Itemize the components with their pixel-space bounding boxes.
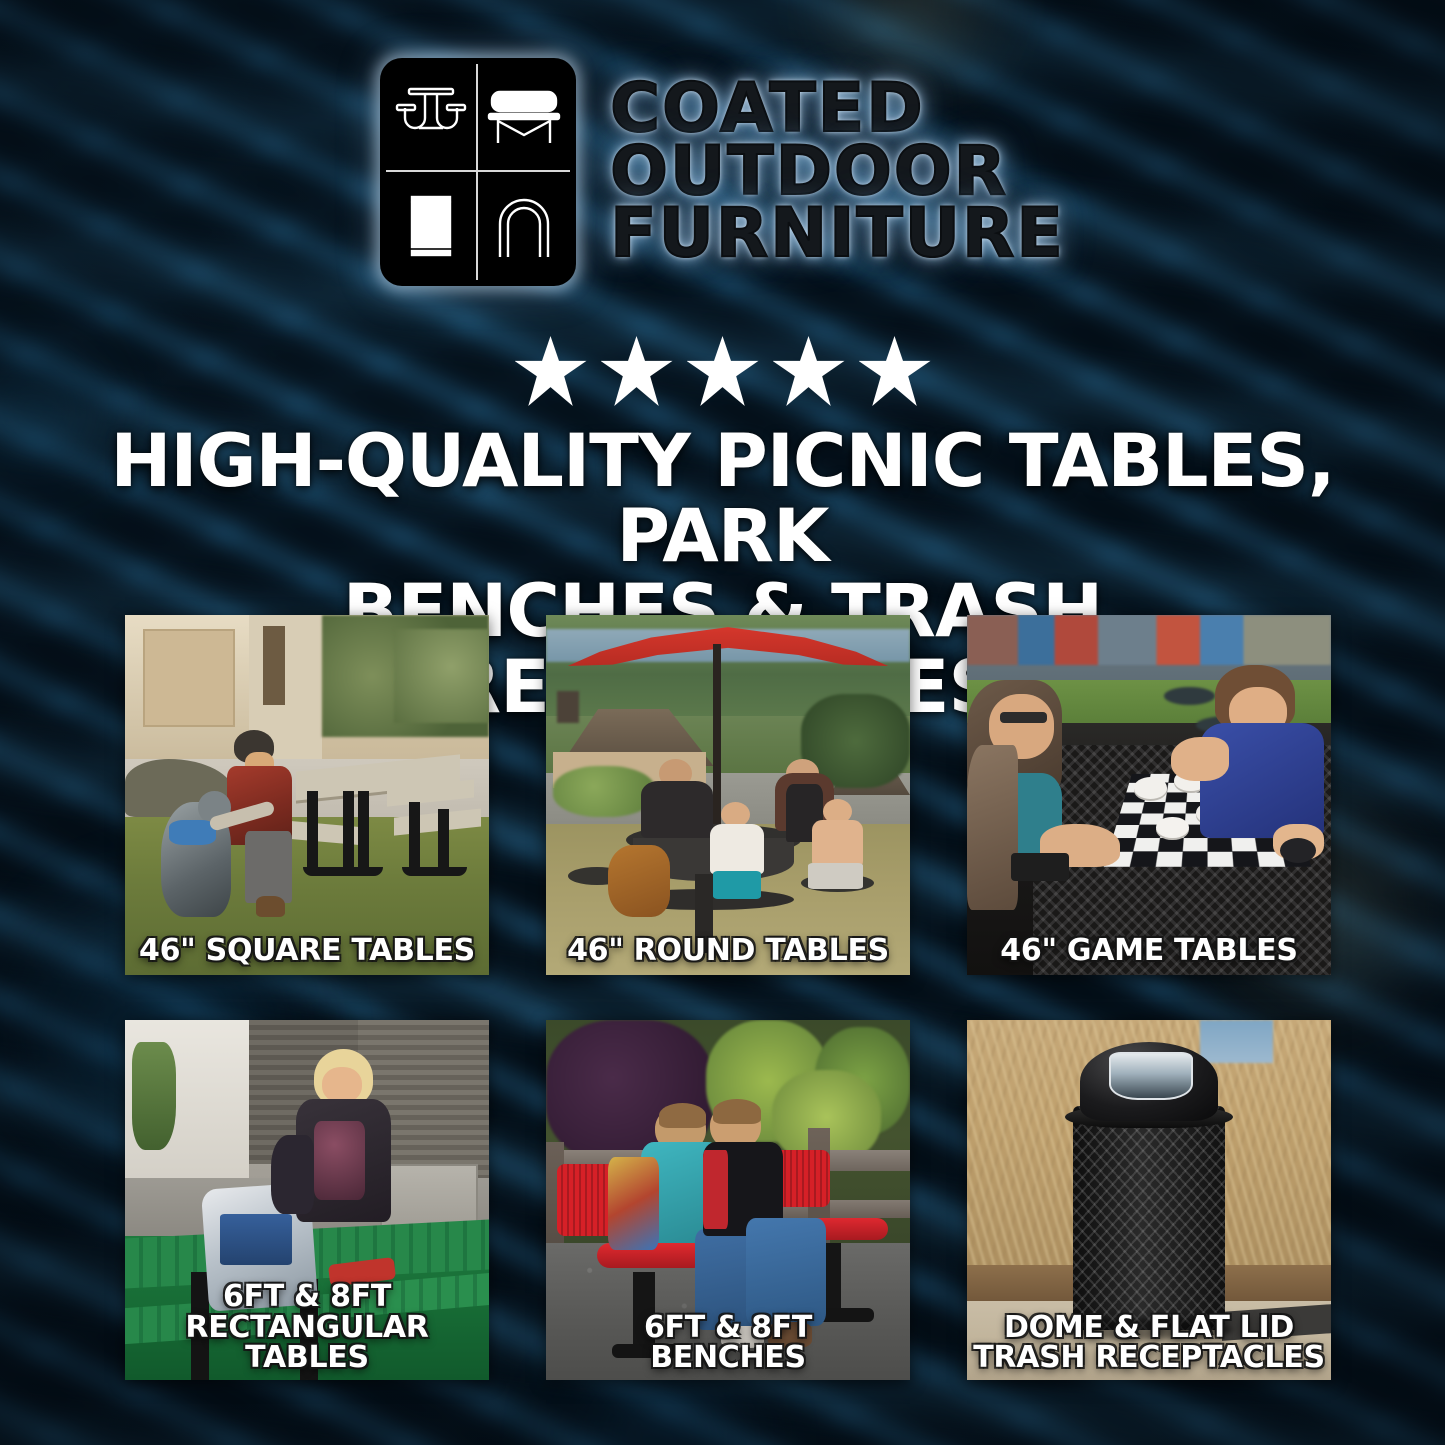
product-tile-benches[interactable]: 6FT & 8FT BENCHES <box>546 1020 910 1380</box>
product-caption: 46" ROUND TABLES <box>546 936 910 967</box>
product-tile-game-tables[interactable]: 46" GAME TABLES <box>967 615 1331 975</box>
star-icon <box>515 336 587 406</box>
star-icon <box>601 336 673 406</box>
product-tile-trash-receptacles[interactable]: DOME & FLAT LID TRASH RECEPTACLES <box>967 1020 1331 1380</box>
product-caption: 46" SQUARE TABLES <box>125 936 489 967</box>
product-tile-round-tables[interactable]: 46" ROUND TABLES <box>546 615 910 975</box>
star-rating <box>0 336 1445 406</box>
park-bench-icon <box>478 64 570 172</box>
game-table-photo <box>967 615 1331 975</box>
star-icon <box>859 336 931 406</box>
brand-logo-mark <box>380 58 576 286</box>
caption-line-2: TRASH RECEPTACLES <box>973 1343 1325 1374</box>
caption-line-1: DOME & FLAT LID <box>973 1313 1325 1344</box>
caption-line-1: 46" GAME TABLES <box>973 936 1325 967</box>
caption-line-1: 46" ROUND TABLES <box>552 936 904 967</box>
caption-line-1: 6FT & 8FT <box>131 1282 483 1313</box>
promo-poster: COATED OUTDOOR FURNITURE HIGH-QUALITY PI… <box>0 0 1445 1445</box>
product-caption: DOME & FLAT LID TRASH RECEPTACLES <box>967 1313 1331 1374</box>
caption-line-1: 46" SQUARE TABLES <box>131 936 483 967</box>
product-caption: 6FT & 8FT BENCHES <box>546 1313 910 1374</box>
product-tile-square-tables[interactable]: 46" SQUARE TABLES <box>125 615 489 975</box>
headline-line-1: HIGH-QUALITY PICNIC TABLES, PARK <box>60 424 1385 574</box>
product-caption: 46" GAME TABLES <box>967 936 1331 967</box>
star-icon <box>687 336 759 406</box>
star-icon <box>773 336 845 406</box>
brand-line-3: FURNITURE <box>610 203 1065 266</box>
product-tile-rectangular-tables[interactable]: 6FT & 8FT RECTANGULAR TABLES <box>125 1020 489 1380</box>
trash-receptacle-icon <box>386 172 478 280</box>
caption-line-1: 6FT & 8FT <box>552 1313 904 1344</box>
bike-rack-arch-icon <box>478 172 570 280</box>
round-table-photo <box>546 615 910 975</box>
square-table-photo <box>125 615 489 975</box>
picnic-table-icon <box>386 64 478 172</box>
product-caption: 6FT & 8FT RECTANGULAR TABLES <box>125 1282 489 1374</box>
brand-header: COATED OUTDOOR FURNITURE <box>0 58 1445 286</box>
brand-name: COATED OUTDOOR FURNITURE <box>610 78 1065 266</box>
caption-line-2: BENCHES <box>552 1343 904 1374</box>
product-grid: 46" SQUARE TABLES <box>125 615 1323 1380</box>
caption-line-2: RECTANGULAR TABLES <box>131 1313 483 1374</box>
